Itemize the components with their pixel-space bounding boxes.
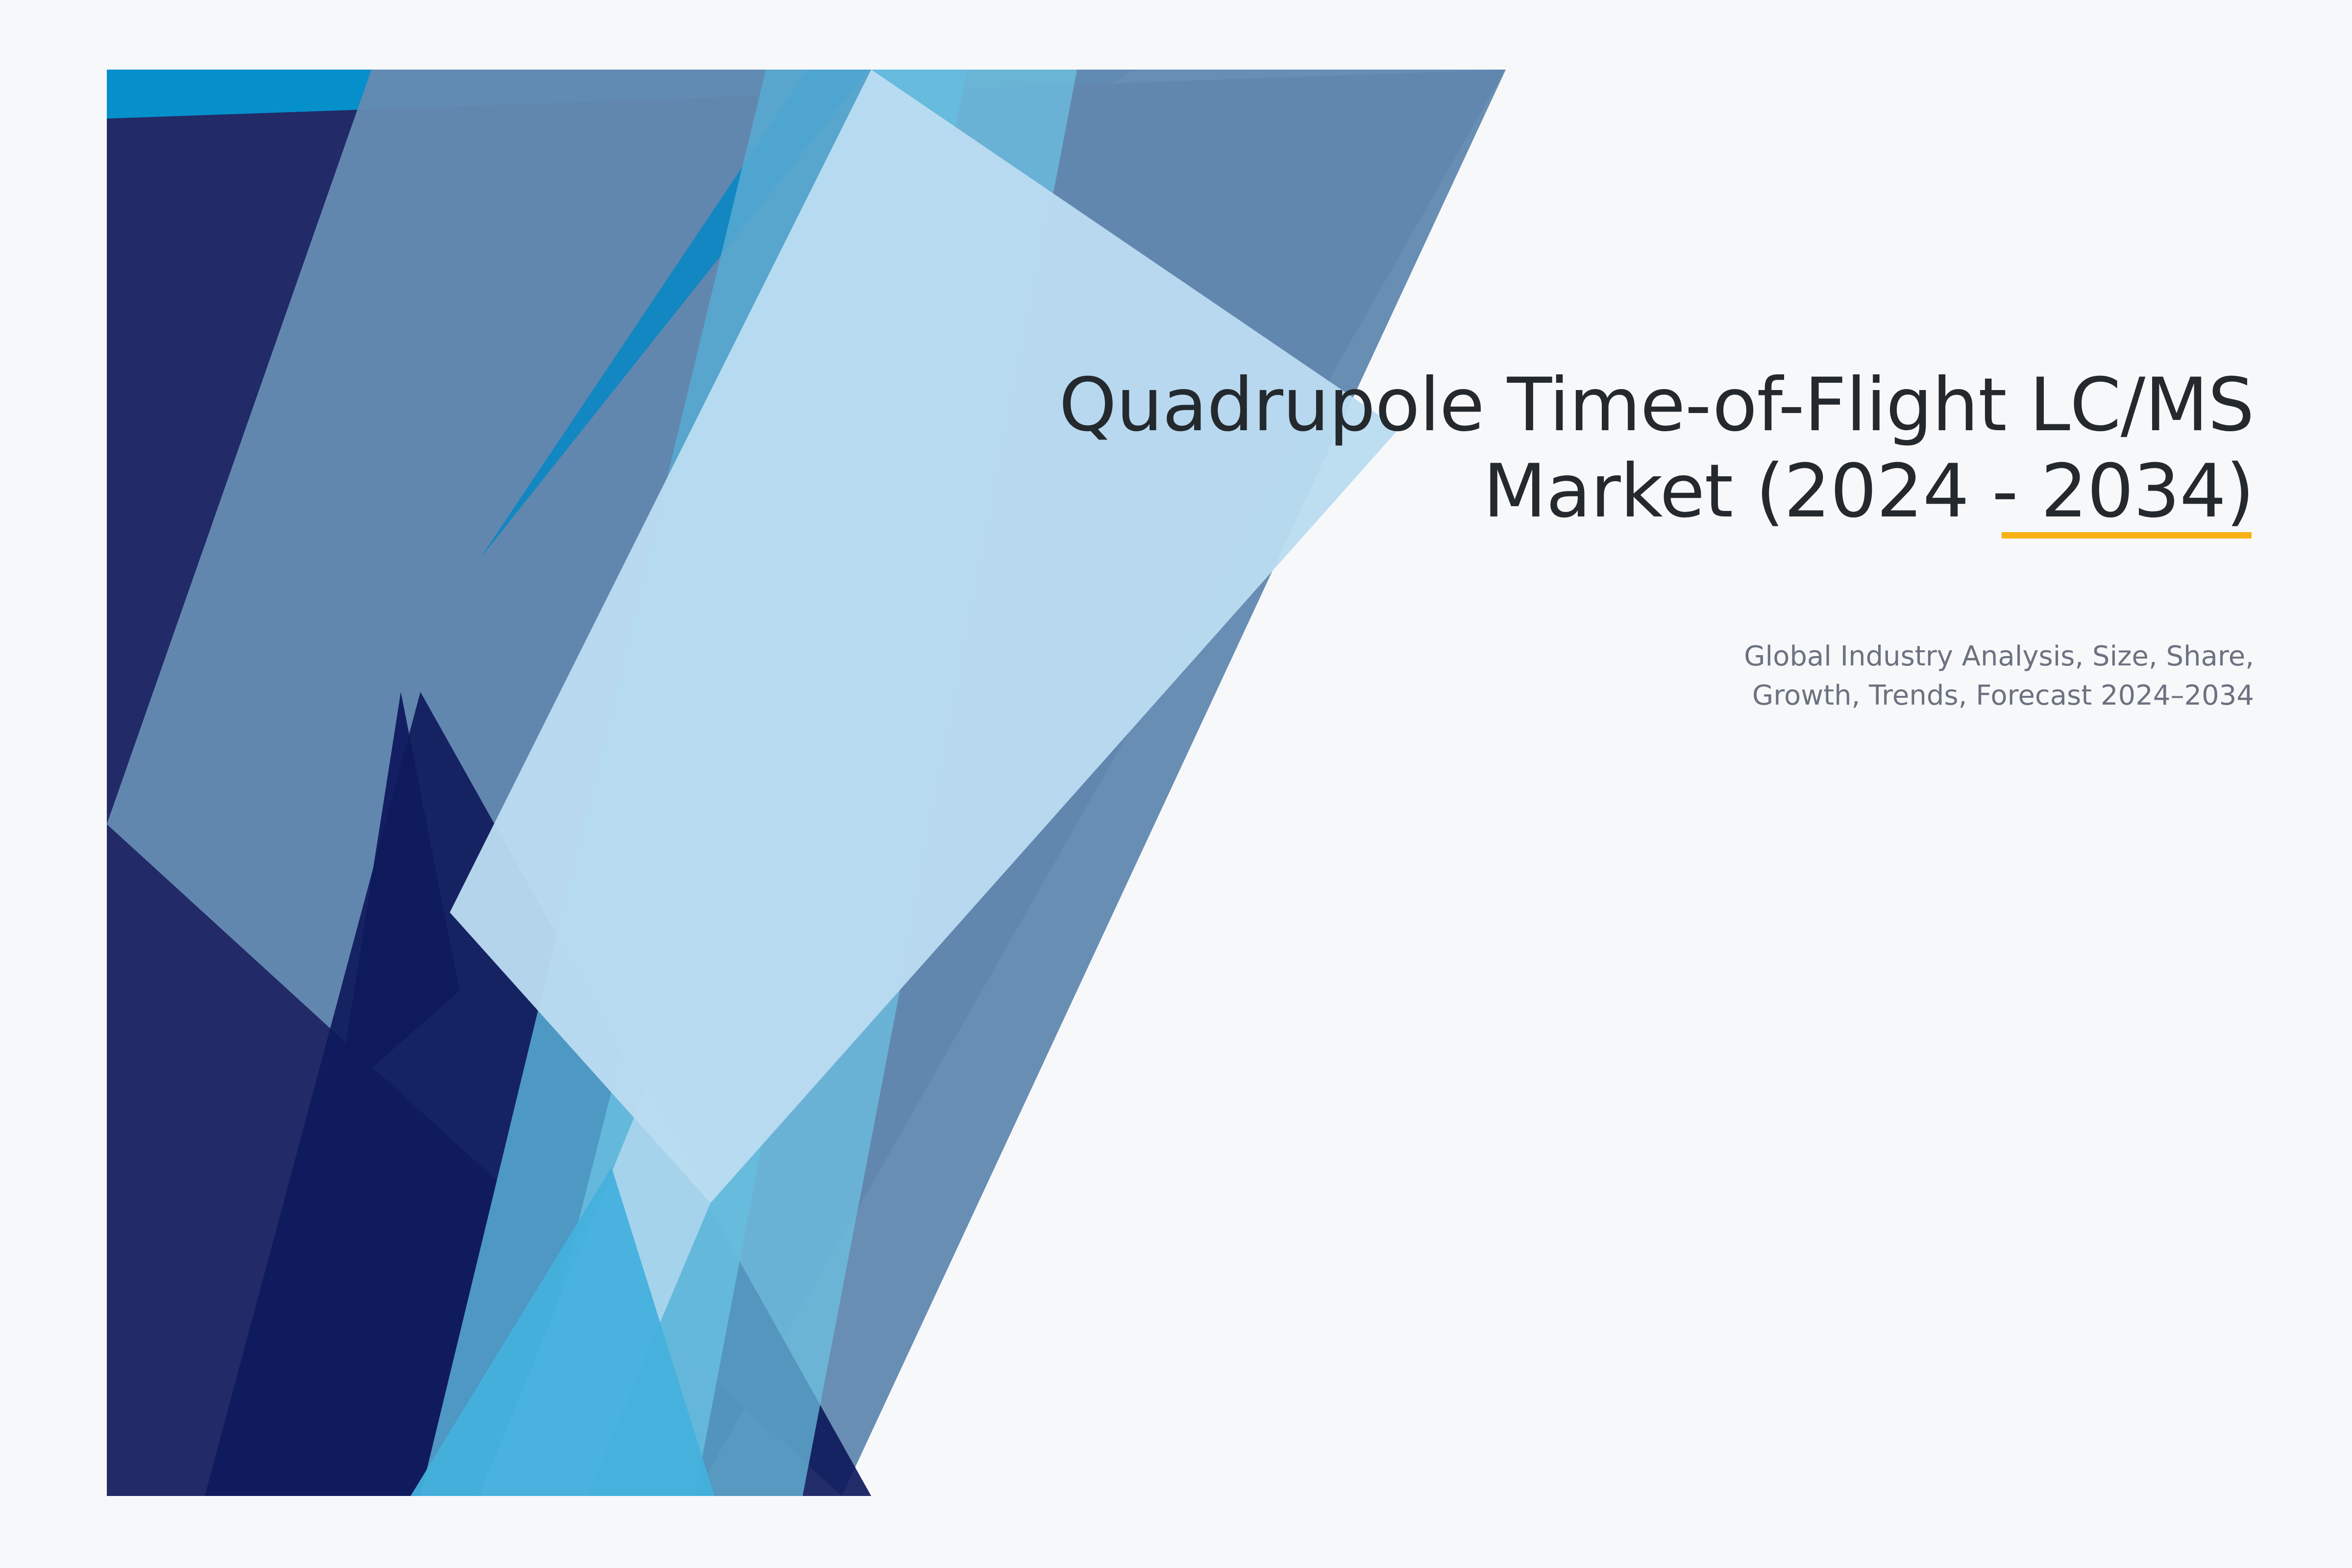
title-highlight-underline <box>2002 532 2252 539</box>
subtitle-block: Global Industry Analysis, Size, Share,Gr… <box>1274 637 2254 715</box>
cover-page: Quadrupole Time-of-Flight LC/MSMarket (2… <box>0 0 2352 1568</box>
page-subtitle-line-1: Global Industry Analysis, Size, Share, <box>1744 640 2254 672</box>
page-title-line-2: Market (2024 - 2034) <box>1483 449 2254 534</box>
page-subtitle-line-2: Growth, Trends, Forecast 2024–2034 <box>1752 680 2254 711</box>
title-block: Quadrupole Time-of-Flight LC/MSMarket (2… <box>931 363 2254 535</box>
abstract-polygon-artwork <box>107 70 1506 1496</box>
page-subtitle: Global Industry Analysis, Size, Share,Gr… <box>1274 637 2254 715</box>
page-title-line-1: Quadrupole Time-of-Flight LC/MS <box>1059 363 2254 448</box>
page-title: Quadrupole Time-of-Flight LC/MSMarket (2… <box>931 363 2254 535</box>
cover-graphic <box>107 70 1506 1496</box>
